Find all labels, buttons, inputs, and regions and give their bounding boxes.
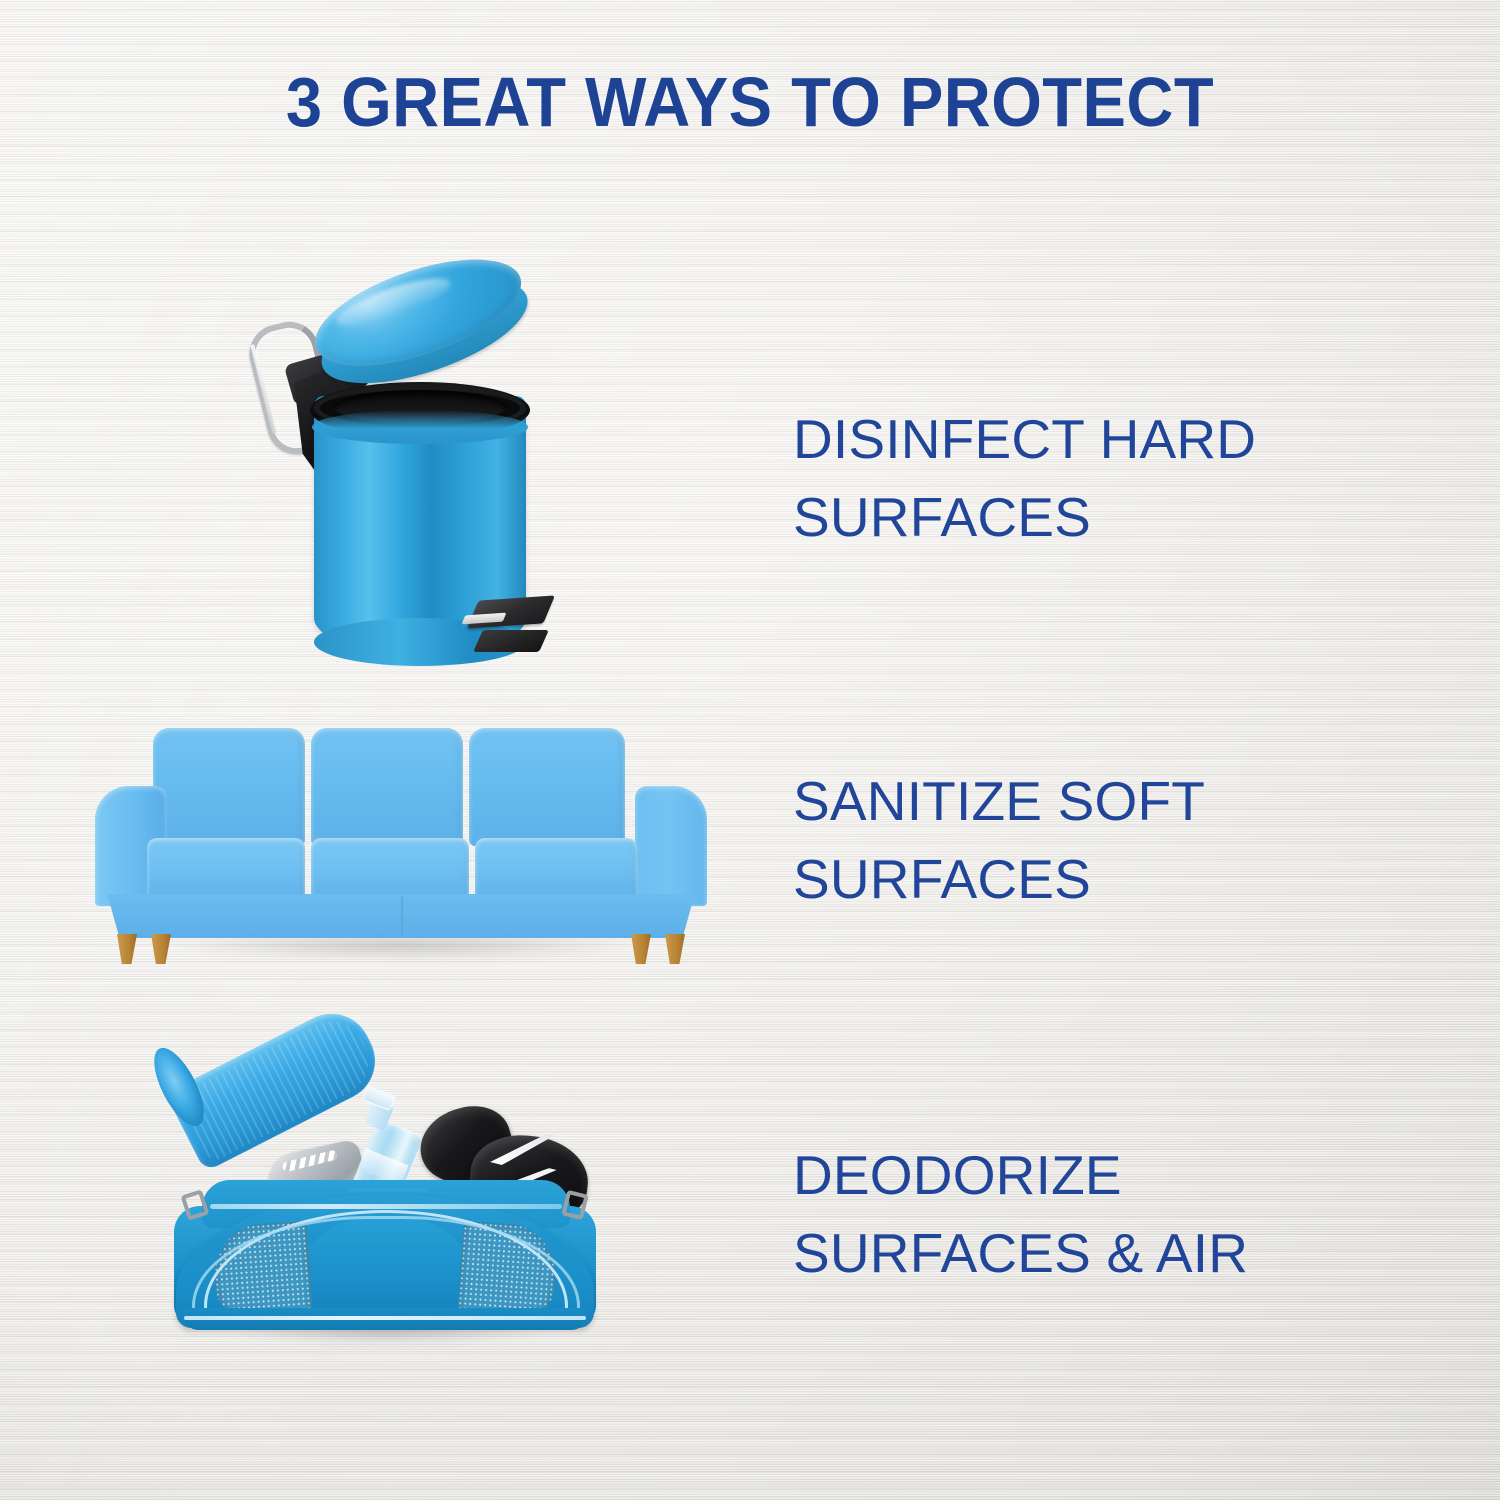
caption-deodorize-surfaces-and-air: DEODORIZE SURFACES & AIR [793, 1136, 1248, 1292]
caption-disinfect-hard-surfaces: DISINFECT HARD SURFACES [793, 400, 1256, 556]
poster-canvas: 3 GREAT WAYS TO PROTECT DISINFECT HARD S… [0, 0, 1500, 1500]
caption-line-2: SURFACES & AIR [793, 1214, 1248, 1292]
sofa-back-cushion-2 [311, 728, 463, 846]
yoga-mat-texture [177, 1009, 381, 1163]
caption-line-2: SURFACES [793, 840, 1205, 918]
page-title: 3 GREAT WAYS TO PROTECT [53, 62, 1448, 142]
sofa-seat-cushion-2 [311, 838, 469, 900]
sofa-back-cushions [153, 728, 651, 848]
trash-can-foot-pedal [467, 595, 555, 628]
gym-bag-zipper [210, 1204, 562, 1209]
sofa-back-cushion-1 [153, 728, 305, 846]
sofa-base-seam [401, 896, 403, 936]
caption-line-1: SANITIZE SOFT [793, 762, 1205, 840]
caption-line-1: DEODORIZE [793, 1136, 1248, 1214]
trash-can-front-lip [312, 410, 528, 444]
caption-line-1: DISINFECT HARD [793, 400, 1256, 478]
sofa-icon [95, 718, 707, 968]
trash-can-icon [252, 258, 572, 678]
gym-bag-base-piping [184, 1316, 586, 1320]
sofa-seat-cushions [147, 838, 659, 900]
sofa-back-cushion-3 [469, 728, 625, 846]
sofa-seat-cushion-1 [147, 838, 305, 900]
caption-line-2: SURFACES [793, 478, 1256, 556]
gym-bag-icon [170, 1028, 600, 1358]
trash-can-pedal-base [473, 630, 549, 652]
caption-sanitize-soft-surfaces: SANITIZE SOFT SURFACES [793, 762, 1205, 918]
sofa-seat-cushion-3 [475, 838, 637, 900]
